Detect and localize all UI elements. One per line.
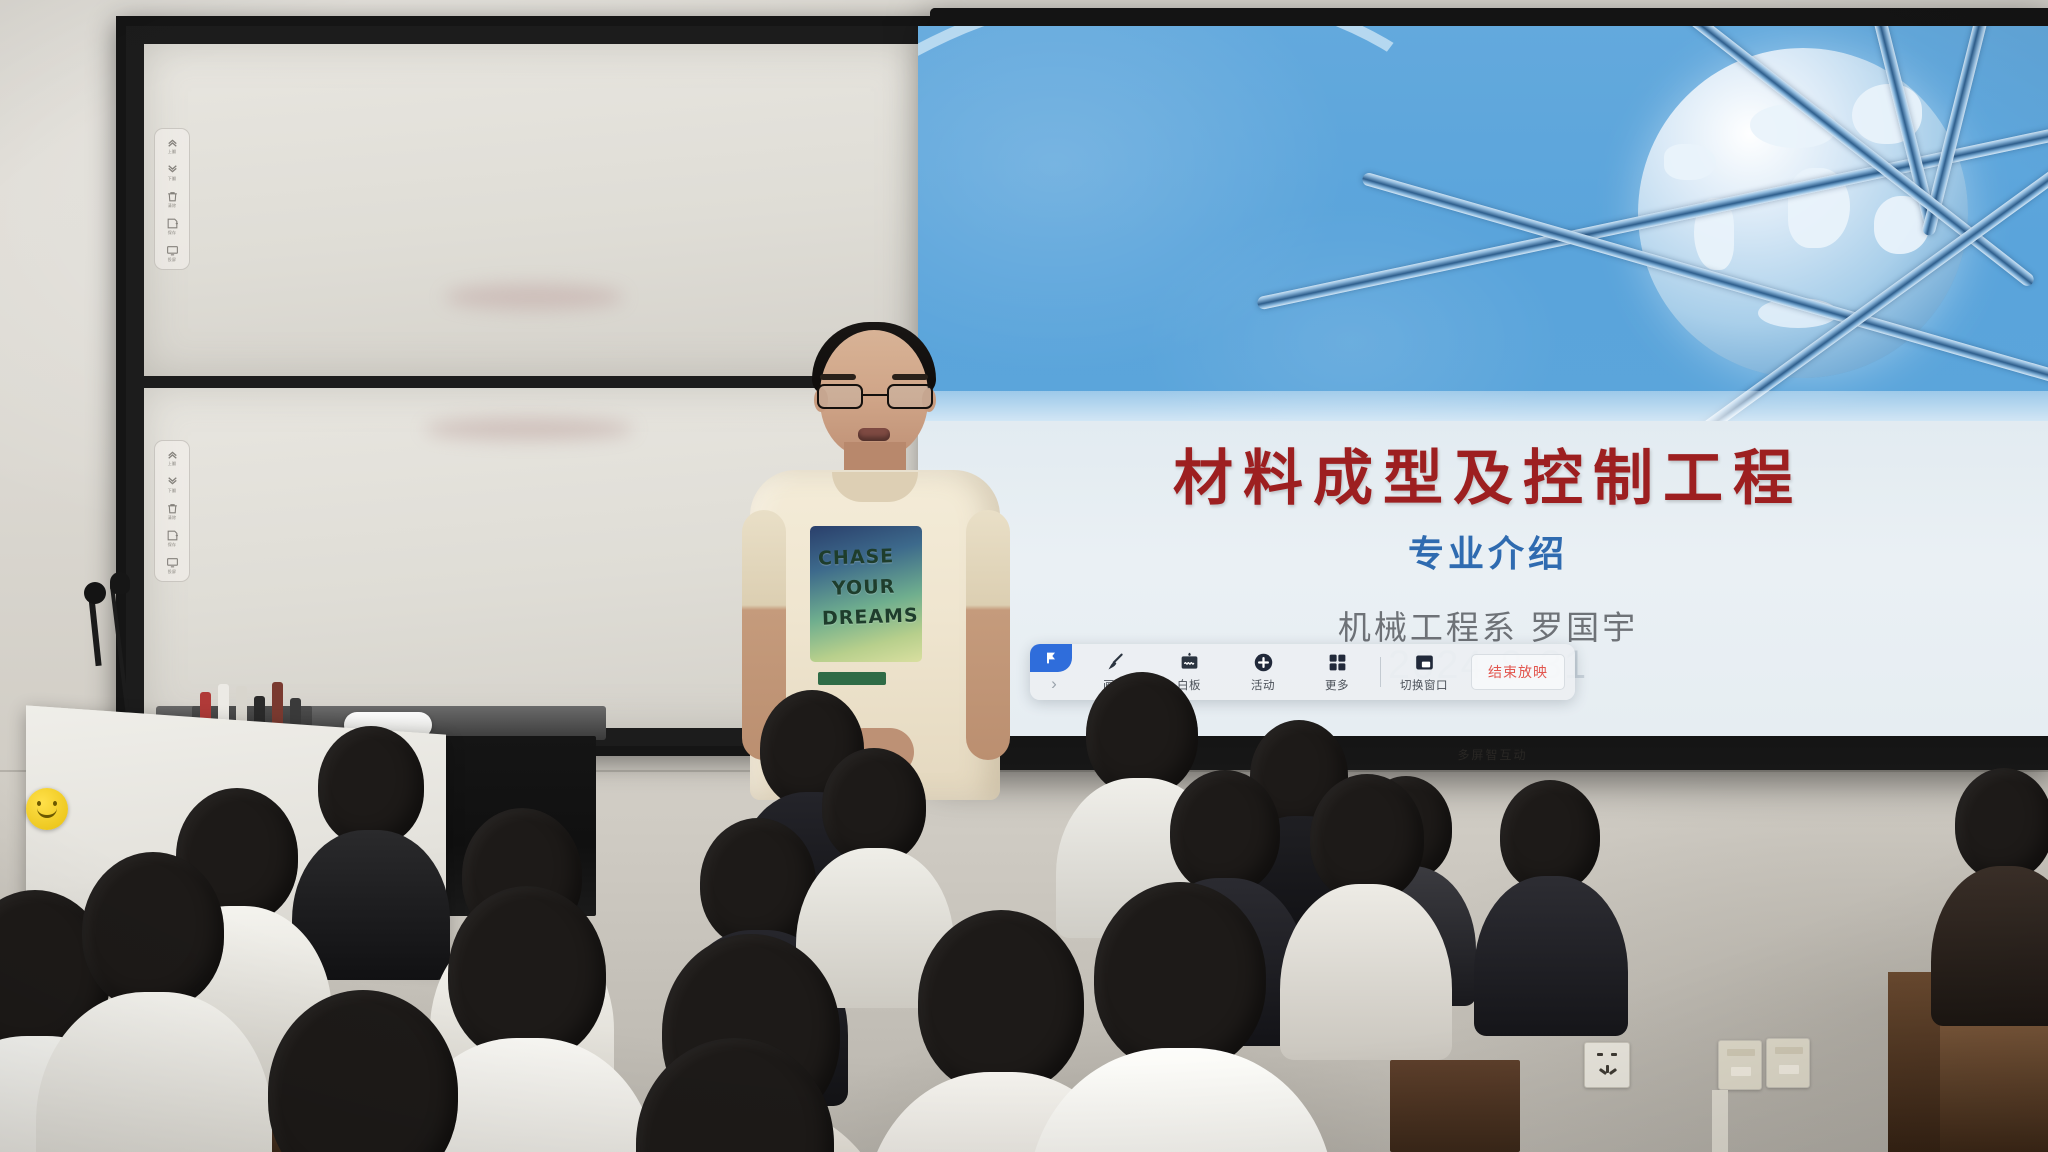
glasses-lens-left	[817, 384, 863, 409]
whiteboard-button-label: 下翻	[168, 177, 176, 181]
glasses-lens-right	[887, 384, 933, 409]
slide-presenter-line: 机械工程系 罗国宇	[918, 601, 2048, 649]
slide-subtitle: 专业介绍	[918, 525, 2048, 577]
tshirt-print-graphic: CHASE YOUR DREAMS	[810, 526, 922, 662]
whiteboard-smudge	[424, 418, 634, 440]
whiteboard-control-strip-lower[interactable]: 上翻 下翻 清除 保存 投屏	[154, 440, 190, 582]
whiteboard-chevron-down-button[interactable]: 下翻	[166, 163, 179, 181]
whiteboard-button-label: 投屏	[168, 258, 176, 262]
microphone-icon	[110, 572, 130, 594]
presenter-mouth	[858, 428, 890, 441]
glasses-icon	[814, 384, 936, 410]
whiteboard-button-label: 保存	[168, 231, 176, 235]
whiteboard-button-label: 投屏	[168, 570, 176, 574]
whiteboard-monitor-button[interactable]: 投屏	[166, 244, 179, 262]
whiteboard-button-label: 上翻	[168, 462, 176, 466]
whiteboard-button-label: 保存	[168, 543, 176, 547]
header-footer-line	[918, 391, 2048, 421]
whiteboard-button-label: 清除	[168, 516, 176, 520]
whiteboard-save-button[interactable]: 保存	[166, 217, 179, 235]
whiteboard-monitor-button[interactable]: 投屏	[166, 556, 179, 574]
grid-icon	[1327, 652, 1348, 674]
tshirt-print-line: DREAMS	[822, 604, 922, 629]
tshirt-brand-tag	[818, 672, 886, 685]
whiteboard-button-label: 上翻	[168, 150, 176, 154]
presenter-eyebrow-right	[892, 374, 928, 380]
whiteboard-chevron-up-button[interactable]: 上翻	[166, 136, 179, 154]
whiteboard-chevron-up-button[interactable]: 上翻	[166, 448, 179, 466]
whiteboard-control-strip-upper[interactable]: 上翻 下翻 清除 保存 投屏	[154, 128, 190, 270]
whiteboard-trash-button[interactable]: 清除	[166, 190, 179, 208]
presenter-eyebrow-left	[820, 374, 856, 380]
classroom-scene: 上翻 下翻 清除 保存 投屏	[0, 0, 2048, 1152]
plus-circle-icon	[1253, 652, 1274, 674]
whiteboard-icon	[1179, 652, 1200, 674]
whiteboard-upper-panel[interactable]: 上翻 下翻 清除 保存 投屏	[144, 44, 918, 376]
whiteboard-trash-button[interactable]: 清除	[166, 502, 179, 520]
audience: GUUKA KEEP THE CHILD	[0, 690, 2048, 1152]
whiteboard-chevron-down-button[interactable]: 下翻	[166, 475, 179, 493]
tshirt-print-line: CHASE	[818, 544, 919, 569]
whiteboard-button-label: 下翻	[168, 489, 176, 493]
window-switch-icon	[1414, 652, 1435, 674]
interactive-smart-display[interactable]: 2024-8-31 材料成型及控制工程 专业介绍 机械工程系 罗国宇 ›	[930, 8, 2048, 770]
brush-icon	[1105, 652, 1126, 674]
glasses-bridge	[863, 394, 887, 396]
tshirt-print-line: YOUR	[832, 574, 922, 599]
end-show-button[interactable]: 结束放映	[1471, 654, 1565, 690]
slide-title: 材料成型及控制工程	[918, 449, 2048, 509]
slide-header-graphic	[918, 26, 2048, 421]
toolbar-divider	[1380, 657, 1381, 687]
presentation-slide[interactable]: 2024-8-31 材料成型及控制工程 专业介绍 机械工程系 罗国宇 ›	[918, 26, 2048, 736]
whiteboard-button-label: 清除	[168, 204, 176, 208]
microphone-head-icon	[84, 582, 106, 604]
whiteboard-smudge	[444, 284, 624, 310]
whiteboard-save-button[interactable]: 保存	[166, 529, 179, 547]
